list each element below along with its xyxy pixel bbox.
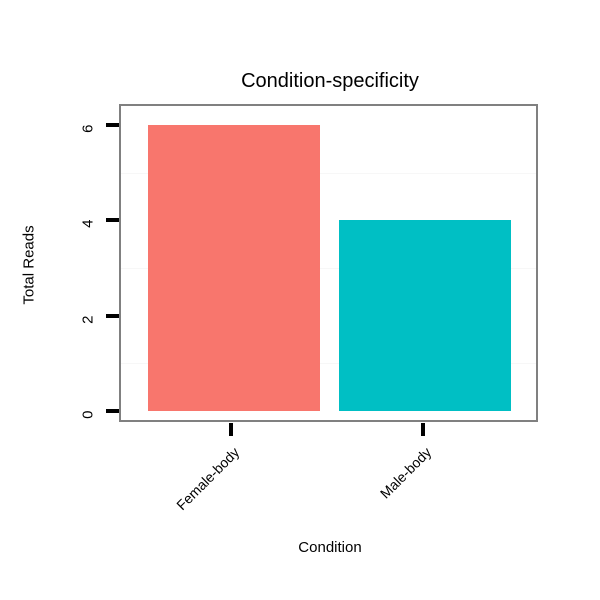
bar-female-body xyxy=(148,125,320,411)
y-axis-tick xyxy=(106,314,119,318)
x-axis-tick-label: Female-body xyxy=(160,444,242,526)
x-axis-title: Condition xyxy=(0,539,600,556)
chart-title: Condition-specificity xyxy=(0,70,600,93)
y-axis-tick-label: 2 xyxy=(80,315,97,343)
x-axis-tick xyxy=(229,423,233,436)
y-axis-tick-label: 0 xyxy=(80,411,97,439)
bar-male-body xyxy=(339,220,511,411)
bars-layer xyxy=(121,106,536,420)
y-axis-tick xyxy=(106,123,119,127)
chart-figure: Condition-specificity 0246 Total Reads F… xyxy=(0,0,600,600)
x-axis-tick xyxy=(421,423,425,436)
y-axis-title: Total Reads xyxy=(21,225,38,304)
y-axis-tick xyxy=(106,218,119,222)
y-axis-tick-label: 6 xyxy=(80,124,97,152)
y-axis-tick-label: 4 xyxy=(80,220,97,248)
y-axis-tick xyxy=(106,409,119,413)
x-axis-tick-label: Male-body xyxy=(352,444,434,526)
plot-panel xyxy=(119,104,538,422)
